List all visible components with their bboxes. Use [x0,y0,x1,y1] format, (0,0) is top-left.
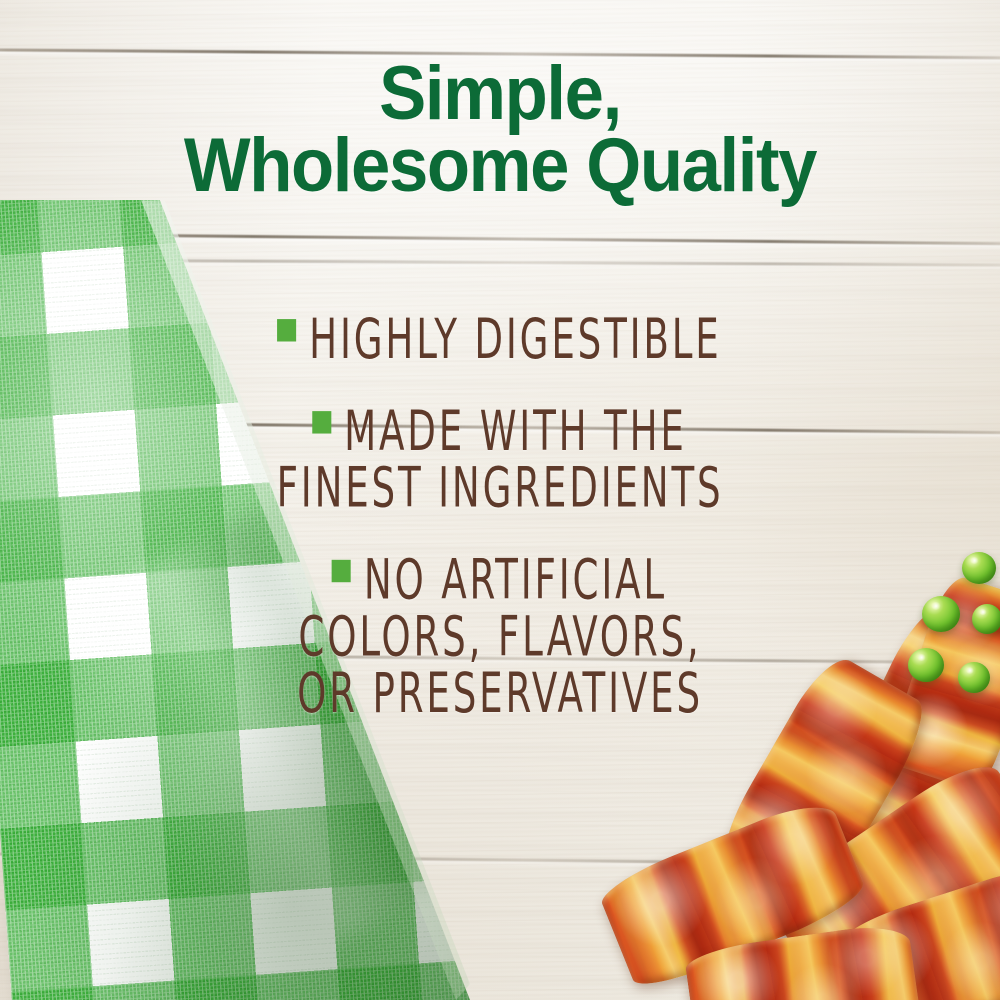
headline-line-1: Simple, [35,58,965,130]
bullet-item: Made with the finest ingredients [254,404,747,517]
bullet-line: No artificial [254,552,747,609]
headline-line-2: Wholesome Quality [35,130,965,202]
green-pea [908,648,944,682]
bullet-line: colors, flavors, [254,609,747,666]
bullet-square-icon [312,411,331,433]
green-pea [922,596,960,632]
bullet-line: or preservatives [254,666,747,723]
bullet-line: finest ingredients [254,461,747,518]
bullet-item: No artificial colors, flavors, or preser… [254,552,747,722]
bullet-text: Highly Digestible [309,307,721,372]
promo-banner: Simple, Wholesome Quality Highly Digesti… [0,0,1000,1000]
bullet-item: Highly Digestible [254,312,747,369]
bullet-text: No artificial [364,548,667,613]
green-pea [972,604,1000,634]
feature-bullet-list: Highly Digestible Made with the finest i… [254,312,747,722]
bullet-line: Made with the [254,404,747,461]
green-pea [962,552,996,584]
bullet-line: Highly Digestible [254,312,747,369]
bullet-square-icon [332,560,351,582]
bullet-square-icon [277,319,296,341]
bullet-text: Made with the [344,399,687,464]
green-pea [958,662,990,693]
headline: Simple, Wholesome Quality [35,58,965,202]
